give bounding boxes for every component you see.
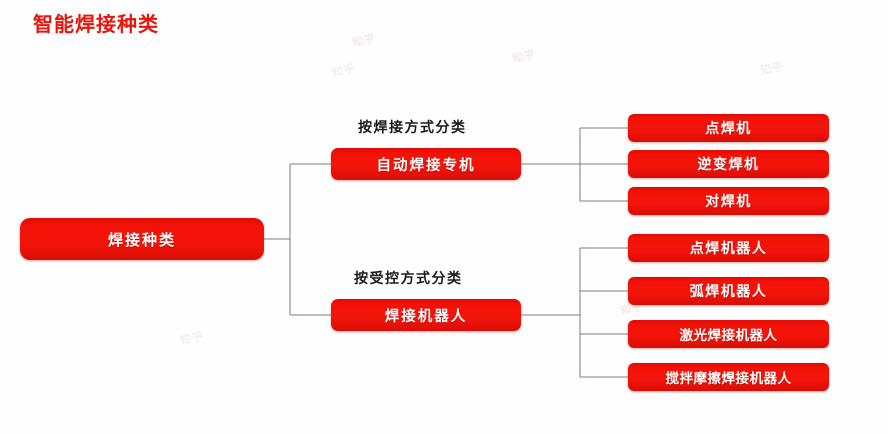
watermark: 知乎 xyxy=(179,328,206,349)
watermark: 知乎 xyxy=(331,60,358,81)
node-leaf-2-3[interactable]: 激光焊接机器人 xyxy=(628,320,829,348)
node-leaf-2-4[interactable]: 搅拌摩擦焊接机器人 xyxy=(628,363,829,391)
watermark: 知乎 xyxy=(511,46,538,67)
watermark: 知乎 xyxy=(759,58,786,79)
diagram-canvas: 知乎 知乎 知乎 知乎 知乎 知乎 智能焊接种类 xyxy=(0,0,888,434)
watermark: 知乎 xyxy=(351,30,378,51)
node-leaf-1-2[interactable]: 逆变焊机 xyxy=(628,150,829,178)
page-title: 智能焊接种类 xyxy=(33,8,159,37)
node-branch-2[interactable]: 焊接机器人 xyxy=(331,299,521,331)
edge-label-branch-1: 按焊接方式分类 xyxy=(358,117,467,137)
node-root[interactable]: 焊接种类 xyxy=(20,218,264,260)
node-leaf-2-2[interactable]: 弧焊机器人 xyxy=(628,277,829,305)
node-branch-1[interactable]: 自动焊接专机 xyxy=(331,148,521,180)
node-leaf-1-3[interactable]: 对焊机 xyxy=(628,187,829,215)
edge-label-branch-2: 按受控方式分类 xyxy=(354,268,463,288)
node-leaf-2-1[interactable]: 点焊机器人 xyxy=(628,234,829,262)
node-leaf-1-1[interactable]: 点焊机 xyxy=(628,114,829,142)
